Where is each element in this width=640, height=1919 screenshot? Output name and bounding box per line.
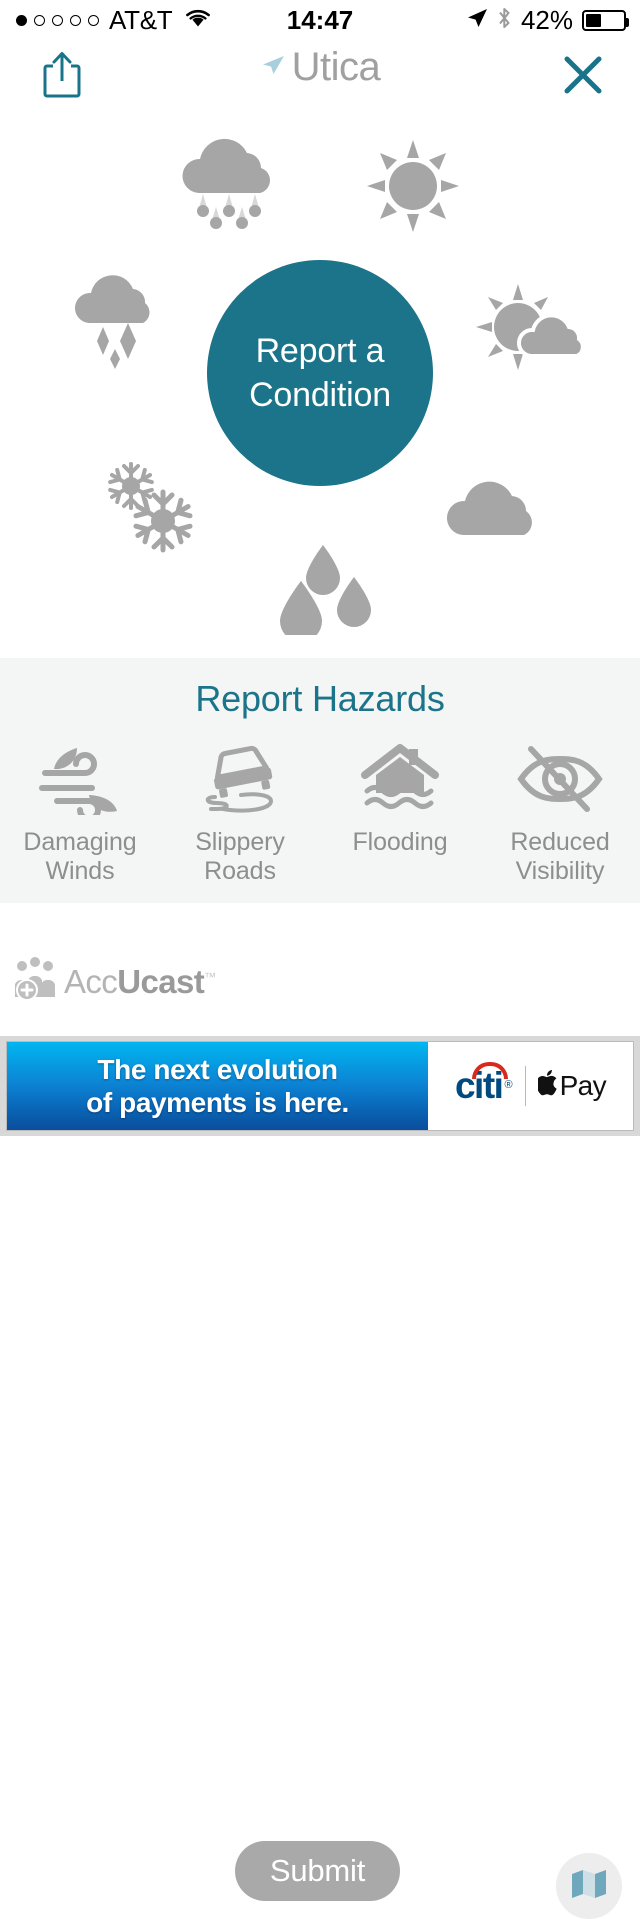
condition-rain-heavy-button[interactable] <box>172 135 292 235</box>
citi-registered-mark: ® <box>504 1079 512 1091</box>
apple-logo-icon <box>538 1070 560 1103</box>
hazard-label-line1: Reduced <box>510 828 609 856</box>
flooded-house-icon <box>357 738 443 820</box>
app-header: Utica <box>0 40 640 110</box>
snow-icon <box>98 453 208 563</box>
location-title: Utica <box>0 45 640 90</box>
hazard-item-reduced-visibility[interactable]: Reduced Visibility <box>480 738 640 886</box>
eye-slash-icon <box>515 738 605 820</box>
close-icon <box>561 53 605 102</box>
hazard-label: Flooding <box>352 828 447 857</box>
location-arrow-icon <box>260 52 286 83</box>
condition-sunny-button[interactable] <box>358 138 468 238</box>
ad-inner: The next evolution of payments is here. … <box>6 1041 634 1131</box>
hazard-label-line2: Winds <box>46 857 115 885</box>
condition-rain-button[interactable] <box>265 535 380 640</box>
condition-wheel: Report a Condition <box>0 110 640 660</box>
hazard-list: Damaging Winds Slippery <box>0 738 640 886</box>
ad-banner[interactable]: The next evolution of payments is here. … <box>0 1036 640 1136</box>
report-condition-line1: Report a <box>256 332 385 370</box>
rain-drops-icon <box>268 535 378 640</box>
report-condition-line2: Condition <box>249 376 391 414</box>
bluetooth-icon <box>497 6 512 35</box>
hazard-label-line1: Damaging <box>23 828 136 856</box>
hazard-item-flooding[interactable]: Flooding <box>320 738 480 886</box>
accucast-wordmark: AccUcast™ <box>64 963 216 1001</box>
wind-icon <box>37 738 123 820</box>
ad-copy: The next evolution of payments is here. <box>7 1042 428 1130</box>
hazard-item-slippery-roads[interactable]: Slippery Roads <box>160 738 320 886</box>
hazard-label-line1: Slippery <box>195 828 285 856</box>
report-hazards-section: Report Hazards Damaging Winds <box>0 658 640 903</box>
hazard-label: Slippery Roads <box>195 828 285 886</box>
logo-text-bold: Ucast <box>117 963 204 1000</box>
submit-label: Submit <box>270 1853 365 1889</box>
submit-button[interactable]: Submit <box>235 1841 400 1901</box>
battery-icon <box>582 10 626 31</box>
report-hazards-title: Report Hazards <box>0 658 640 720</box>
status-bar-right: 42% <box>466 5 626 36</box>
bottom-bar: AccUcast™ Submit <box>0 903 640 1031</box>
hazard-label-line2: Visibility <box>516 857 605 885</box>
hazard-label: Reduced Visibility <box>510 828 609 886</box>
logo-text-light: Acc <box>64 963 117 1000</box>
hazard-label-line1: Flooding <box>352 828 447 856</box>
ad-line-2: of payments is here. <box>86 1086 349 1119</box>
condition-partly-cloudy-button[interactable] <box>470 280 590 380</box>
hazard-item-damaging-winds[interactable]: Damaging Winds <box>0 738 160 886</box>
apple-pay-logo: Pay <box>538 1070 606 1103</box>
battery-percent-label: 42% <box>521 5 573 36</box>
ad-line-1: The next evolution <box>97 1053 337 1086</box>
close-button[interactable] <box>556 50 610 104</box>
cloudy-icon <box>445 473 550 553</box>
map-button[interactable] <box>556 1853 622 1919</box>
partly-cloudy-icon <box>473 280 588 380</box>
sunny-icon <box>363 136 463 241</box>
hazard-label: Damaging Winds <box>23 828 136 886</box>
condition-cloudy-button[interactable] <box>440 470 555 555</box>
citi-logo: citi ® <box>455 1065 513 1107</box>
report-condition-button[interactable]: Report a Condition <box>207 260 433 486</box>
map-icon <box>569 1865 609 1908</box>
ad-divider <box>525 1066 526 1106</box>
apple-pay-text: Pay <box>560 1070 606 1102</box>
accucast-people-icon <box>12 957 58 1006</box>
page-title: Utica <box>292 45 381 90</box>
condition-sleet-button[interactable] <box>68 275 178 375</box>
rain-heavy-icon <box>177 135 287 235</box>
sleet-icon <box>73 275 173 375</box>
ad-brands: citi ® Pay <box>428 1042 633 1130</box>
location-arrow-icon <box>466 7 488 34</box>
hazard-label-line2: Roads <box>204 857 276 885</box>
report-condition-label: Report a Condition <box>249 329 391 417</box>
accucast-logo: AccUcast™ <box>12 957 216 1006</box>
logo-trademark: ™ <box>204 970 215 984</box>
skidding-car-icon <box>197 738 283 820</box>
condition-snow-button[interactable] <box>95 455 210 560</box>
status-bar: AT&T 14:47 42% <box>0 0 640 40</box>
